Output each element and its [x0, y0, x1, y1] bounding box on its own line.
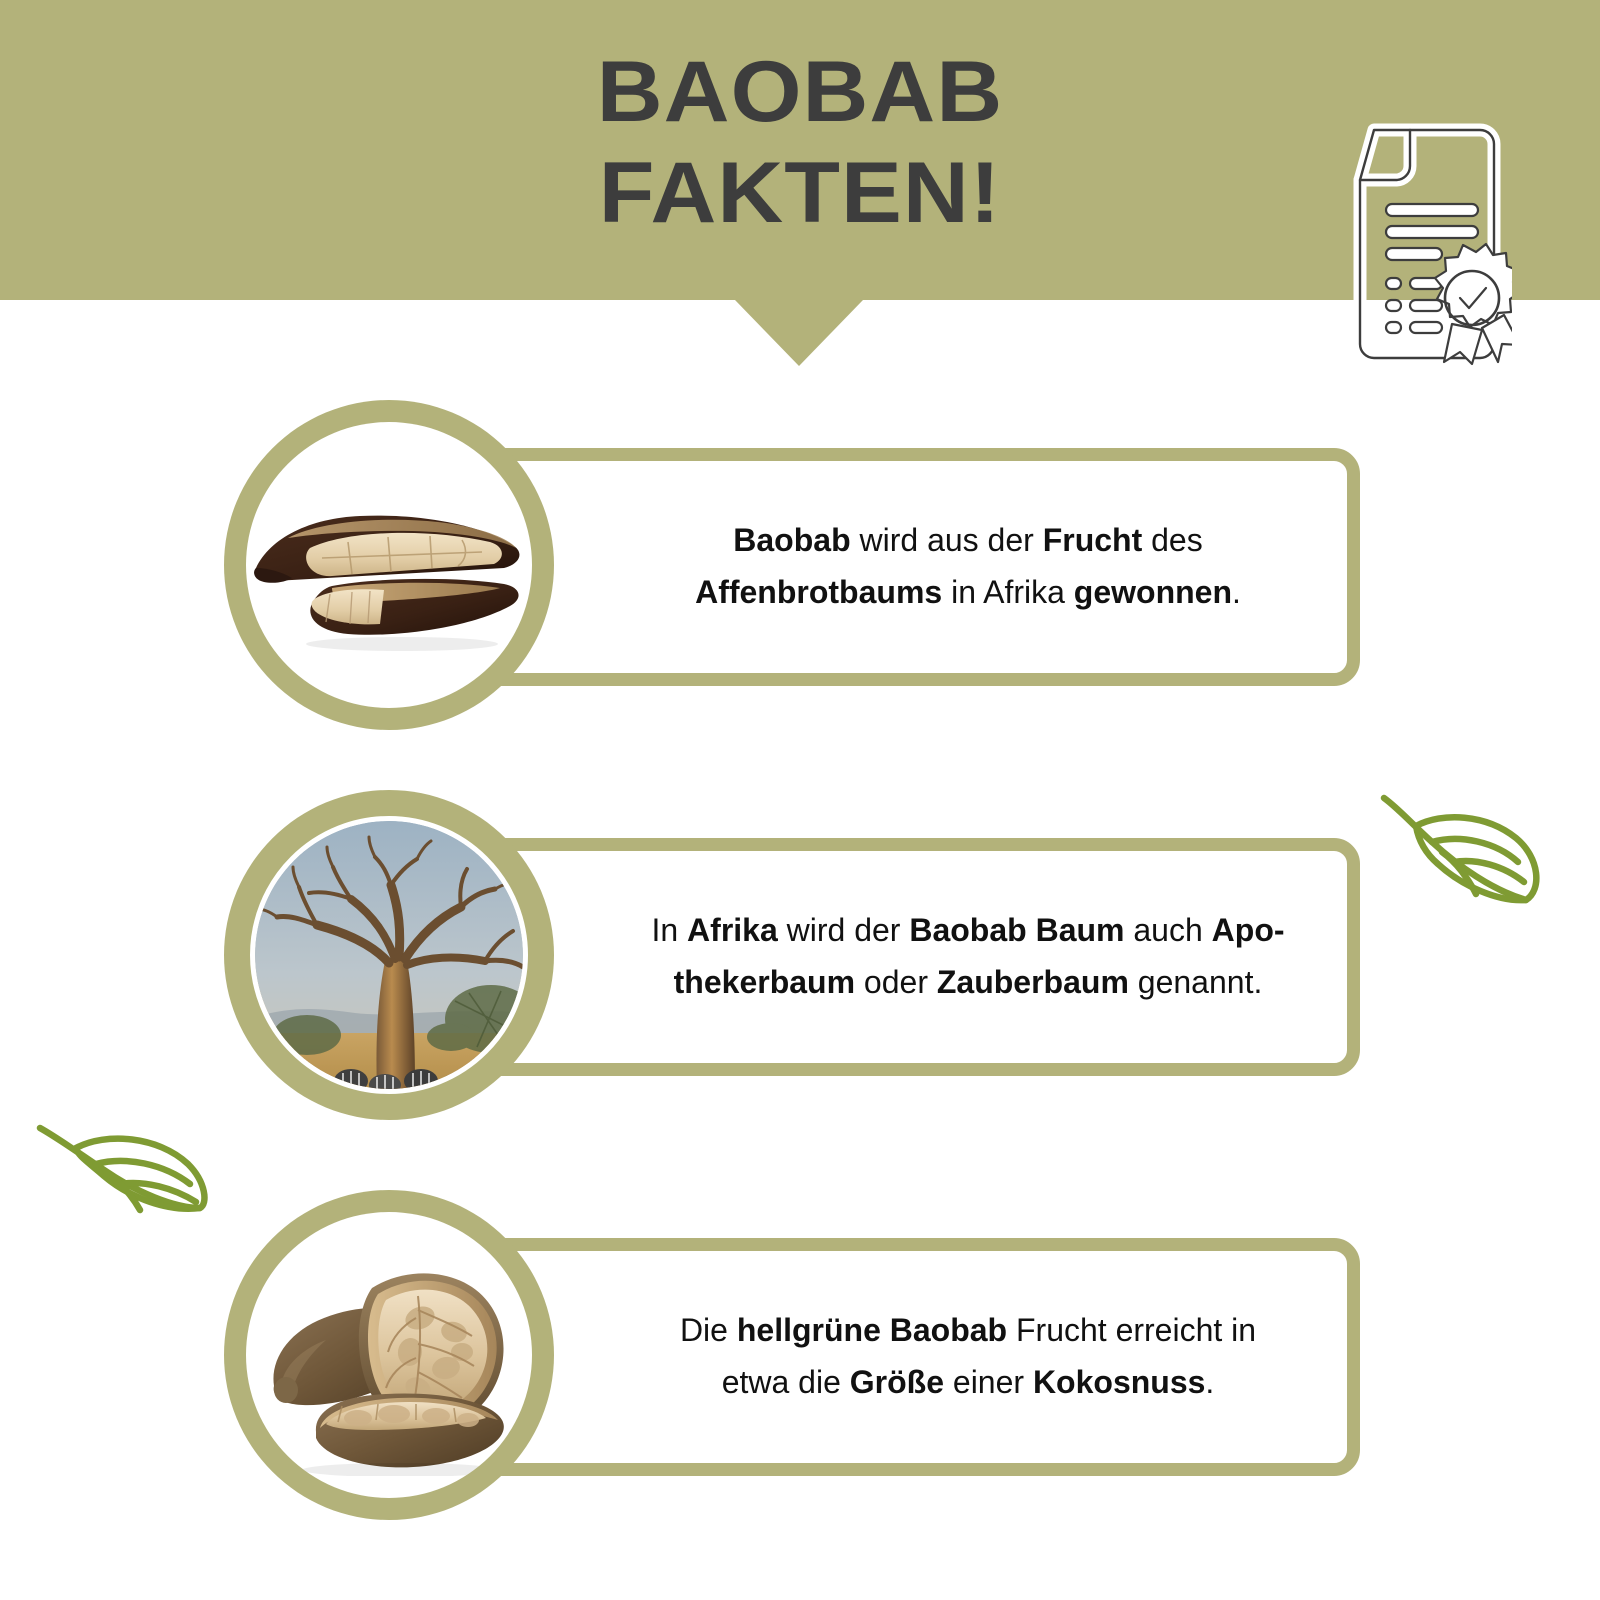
infographic-page: BAOBAB FAKTEN!	[0, 0, 1600, 1600]
fact-text-1: Baobab wird aus der Frucht des Affenbrot…	[563, 461, 1373, 673]
fact-text-3: Die hellgrüne Baobab Frucht erreicht in …	[563, 1251, 1373, 1463]
fact-2-bold-2: Baobab Baum	[909, 912, 1124, 948]
fact-3-plain-3: etwa die	[722, 1364, 850, 1400]
fact-row-3: Die hellgrüne Baobab Frucht erreicht in …	[0, 1190, 1600, 1540]
fact-row-2: In Afrika wird der Baobab Baum auch Apo-…	[0, 790, 1600, 1130]
fact-2-bold-4: thekerbaum	[674, 964, 855, 1000]
leaf-outline-right-icon	[1376, 786, 1546, 908]
fact-1-plain-1: wird aus der	[851, 522, 1043, 558]
fact-image-1	[246, 422, 532, 708]
baobab-fruit-pod-open-illustration	[252, 502, 526, 652]
fact-3-plain-1: Die	[680, 1312, 737, 1348]
baobab-tree-savanna-photo	[255, 821, 523, 1089]
fact-1-plain-2: des	[1142, 522, 1202, 558]
baobab-fruit-halves-illustration	[268, 1240, 518, 1476]
fact-2-plain-1: In	[651, 912, 687, 948]
fact-2-bold-5: Zauberbaum	[937, 964, 1129, 1000]
certificate-seal-icon	[1312, 118, 1512, 370]
fact-1-bold-4: gewonnen	[1074, 574, 1232, 610]
fact-image-2	[250, 816, 528, 1094]
fact-2-plain-2: wird der	[778, 912, 910, 948]
fact-3-plain-2: Frucht erreicht in	[1007, 1312, 1256, 1348]
fact-2-bold-1: Afrika	[687, 912, 778, 948]
fact-3-plain-5: .	[1205, 1364, 1214, 1400]
fact-1-bold-1: Baobab	[733, 522, 850, 558]
fact-1-plain-3: in Afrika	[942, 574, 1074, 610]
header-speech-tail	[735, 300, 863, 366]
fact-2-plain-3: auch	[1124, 912, 1211, 948]
fact-image-frame-2	[224, 790, 554, 1120]
fact-2-bold-3: Apo-	[1212, 912, 1285, 948]
fact-1-bold-2: Frucht	[1043, 522, 1143, 558]
fact-image-3	[246, 1212, 532, 1498]
fact-text-2: In Afrika wird der Baobab Baum auch Apo-…	[563, 851, 1373, 1063]
fact-row-1: Baobab wird aus der Frucht des Affenbrot…	[0, 400, 1600, 740]
fact-3-plain-4: einer	[944, 1364, 1033, 1400]
leaf-outline-left-icon	[34, 1112, 212, 1230]
fact-3-bold-2: Größe	[850, 1364, 944, 1400]
fact-image-frame-1	[224, 400, 554, 730]
fact-3-bold-1: hellgrüne Baobab	[737, 1312, 1007, 1348]
fact-image-frame-3	[224, 1190, 554, 1520]
fact-2-plain-5: genannt.	[1129, 964, 1262, 1000]
fact-3-bold-3: Kokosnuss	[1033, 1364, 1205, 1400]
fact-1-bold-3: Affenbrotbaums	[695, 574, 942, 610]
fact-2-plain-4: oder	[855, 964, 937, 1000]
fact-1-plain-4: .	[1232, 574, 1241, 610]
